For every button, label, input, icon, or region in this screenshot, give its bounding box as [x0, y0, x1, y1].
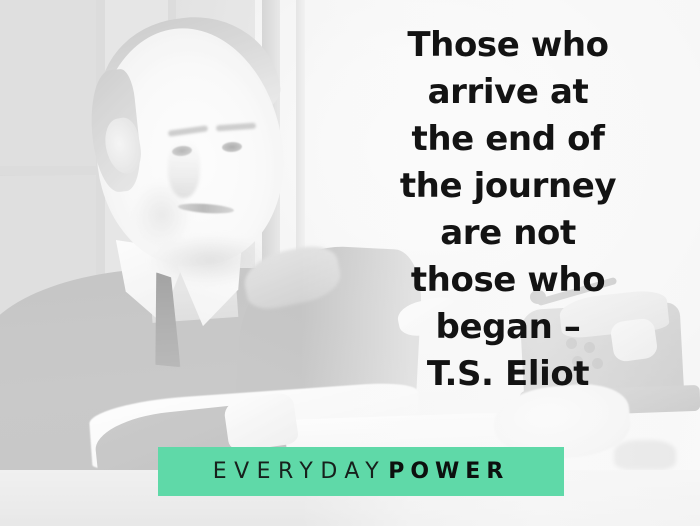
- quote-line-6: those who: [330, 257, 686, 304]
- quote-card: Those who arrive at the end of the journ…: [0, 0, 700, 526]
- quote-line-4: the journey: [330, 163, 686, 210]
- brand-logo-banner[interactable]: EVERYDAY POWER: [158, 447, 564, 496]
- brand-word-power: POWER: [388, 459, 509, 484]
- quote-line-7: began –: [330, 304, 686, 351]
- quote-attribution: T.S. Eliot: [330, 351, 686, 398]
- quote-line-5: are not: [330, 210, 686, 257]
- quote-text-block: Those who arrive at the end of the journ…: [330, 22, 686, 398]
- desk-object: [614, 440, 676, 470]
- shirt-cuff: [223, 391, 300, 452]
- quote-line-1: Those who: [330, 22, 686, 69]
- window-pane: [0, 0, 96, 168]
- jaw-shadow: [150, 236, 270, 284]
- quote-line-3: the end of: [330, 116, 686, 163]
- nose: [168, 140, 200, 198]
- brand-word-everyday: EVERYDAY: [213, 459, 387, 484]
- quote-line-2: arrive at: [330, 69, 686, 116]
- door-frame-edge: [296, 0, 305, 262]
- brand-logo-text: EVERYDAY POWER: [213, 459, 510, 484]
